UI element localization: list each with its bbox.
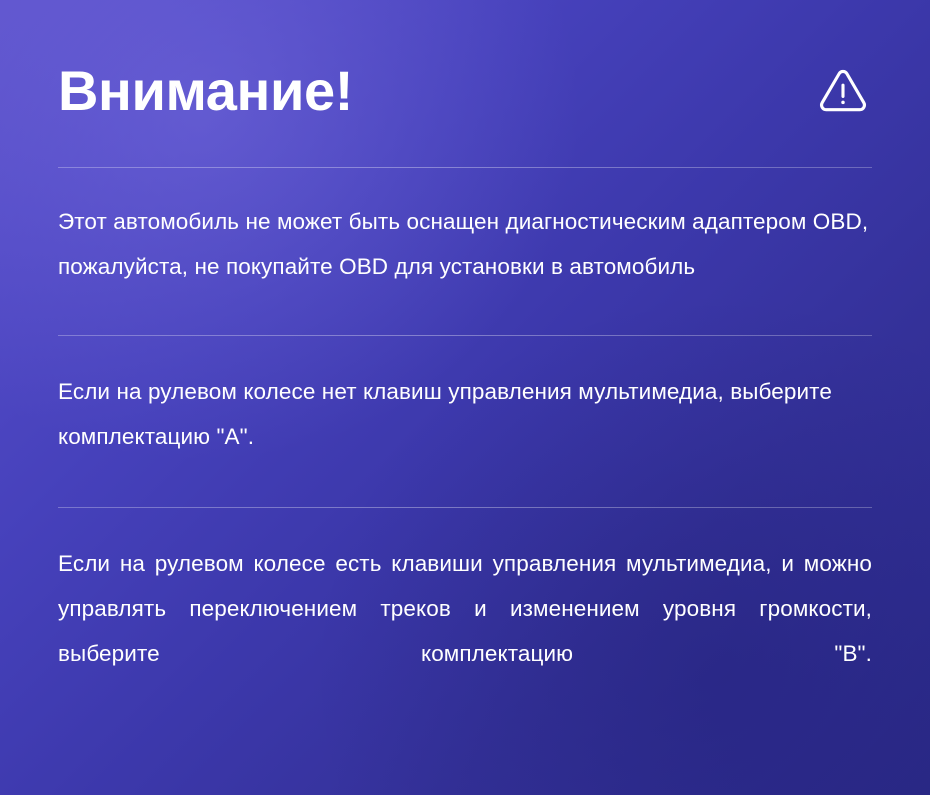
- paragraph-trim-b-notice: Если на рулевом колесе есть клавиши упра…: [58, 541, 872, 721]
- warning-triangle-icon: [816, 64, 870, 118]
- divider-2: [58, 335, 872, 336]
- divider-3: [58, 507, 872, 508]
- card-content: Внимание! Этот автомобиль не может быть …: [0, 0, 930, 721]
- paragraph-obd-notice: Этот автомобиль не может быть оснащен ди…: [58, 199, 872, 289]
- card-header: Внимание!: [58, 0, 872, 121]
- page-title: Внимание!: [58, 62, 353, 121]
- paragraph-trim-a-notice: Если на рулевом колесе нет клавиш управл…: [58, 369, 872, 459]
- divider-1: [58, 167, 872, 168]
- warning-card: Внимание! Этот автомобиль не может быть …: [0, 0, 930, 795]
